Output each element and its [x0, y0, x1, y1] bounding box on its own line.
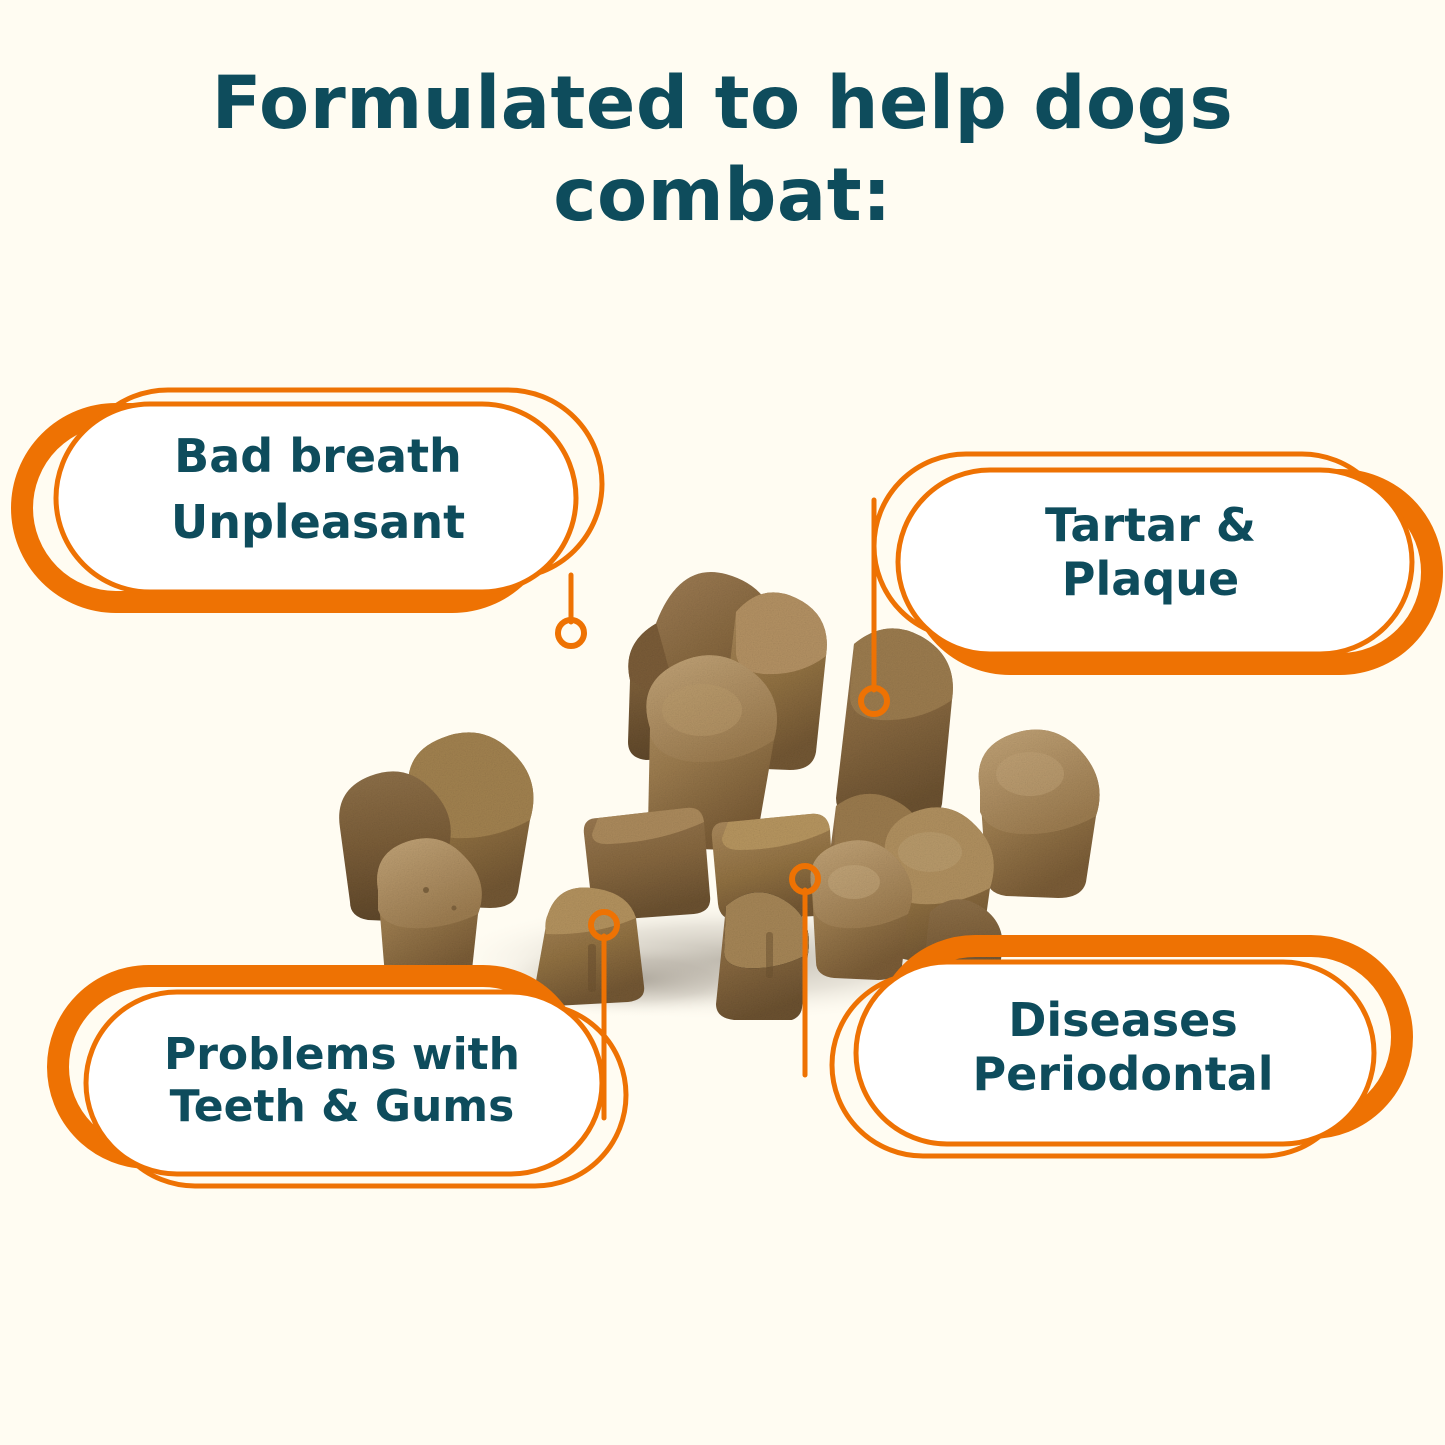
- callout-label: Bad breath Unpleasant: [68, 402, 568, 577]
- infographic-canvas: Formulated to help dogs combat:: [0, 0, 1445, 1445]
- callout-bad-breath[interactable]: Bad breath Unpleasant: [18, 372, 618, 622]
- callout-label: Diseases Periodontal: [888, 962, 1358, 1132]
- callout-teeth-gums[interactable]: Problems with Teeth & Gums: [42, 962, 642, 1207]
- page-title: Formulated to help dogs combat:: [0, 58, 1445, 242]
- callout-label: Tartar & Plaque: [918, 462, 1383, 642]
- callout-periodontal-diseases[interactable]: Diseases Periodontal: [818, 932, 1418, 1177]
- callout-tartar-plaque[interactable]: Tartar & Plaque: [858, 440, 1443, 685]
- callout-label: Problems with Teeth & Gums: [102, 996, 582, 1166]
